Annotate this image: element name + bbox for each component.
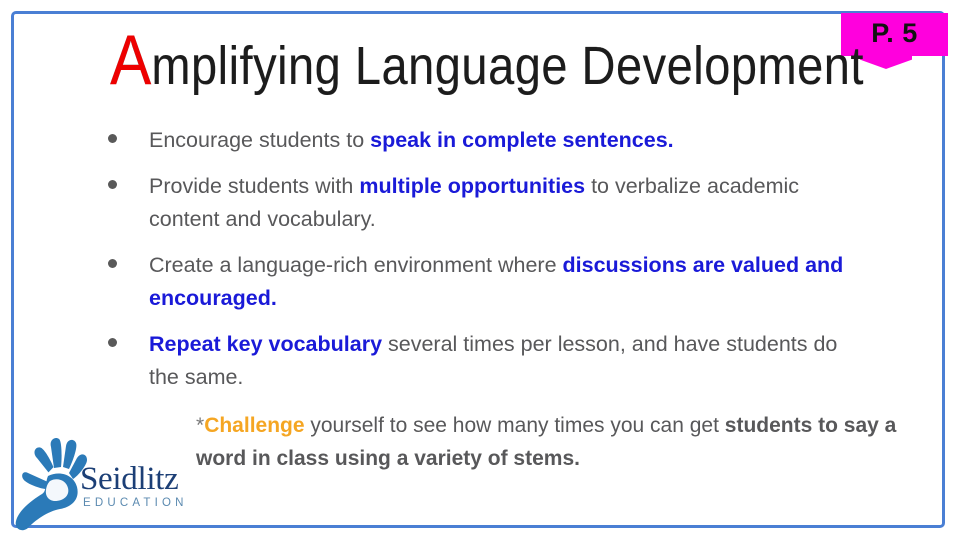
page-title: Amplifying Language Development: [110, 28, 850, 99]
bullet-text-2: Provide students with multiple opportuni…: [149, 170, 868, 236]
bullet-dot-icon: [108, 338, 117, 347]
title-rest: mplifying Language Development: [151, 35, 864, 95]
list-item: Encourage students to speak in complete …: [108, 124, 868, 157]
bullet-text-3: Create a language-rich environment where…: [149, 249, 868, 315]
logo-name: Seidlitz: [80, 462, 205, 496]
plain-phrase: Provide students with: [149, 174, 359, 198]
slide-canvas: P. 5 Amplifying Language Development Enc…: [0, 0, 960, 540]
blue-hand-icon: [14, 437, 90, 532]
highlighted-phrase: speak in complete sentences: [370, 128, 668, 152]
list-item: Provide students with multiple opportuni…: [108, 170, 868, 236]
bullet-text-4: Repeat key vocabulary several times per …: [149, 328, 868, 394]
logo-subtitle: EDUCATION: [80, 496, 205, 511]
challenge-keyword: Challenge: [204, 414, 304, 437]
highlighted-phrase: multiple opportunities: [359, 174, 585, 198]
logo-wordmark: Seidlitz EDUCATION: [80, 462, 205, 511]
title-drop-cap: A: [110, 21, 151, 100]
list-item: Repeat key vocabulary several times per …: [108, 328, 868, 394]
plain-phrase: Create a language-rich environment where: [149, 253, 563, 277]
badge-ribbon-tail-icon: [860, 56, 912, 69]
challenge-asterisk: *: [196, 414, 204, 437]
bullet-list: Encourage students to speak in complete …: [108, 124, 868, 407]
highlighted-phrase: .: [271, 286, 277, 310]
bullet-text-1: Encourage students to speak in complete …: [149, 124, 868, 157]
challenge-note: *Challenge yourself to see how many time…: [196, 409, 906, 475]
challenge-normal-text: yourself to see how many times you can g…: [305, 414, 725, 437]
seidlitz-logo: Seidlitz EDUCATION: [14, 437, 204, 532]
bullet-dot-icon: [108, 134, 117, 143]
bullet-dot-icon: [108, 180, 117, 189]
highlighted-phrase: Repeat key vocabulary: [149, 332, 382, 356]
highlighted-phrase: .: [668, 128, 674, 152]
list-item: Create a language-rich environment where…: [108, 249, 868, 315]
bullet-dot-icon: [108, 259, 117, 268]
plain-phrase: Encourage students to: [149, 128, 370, 152]
